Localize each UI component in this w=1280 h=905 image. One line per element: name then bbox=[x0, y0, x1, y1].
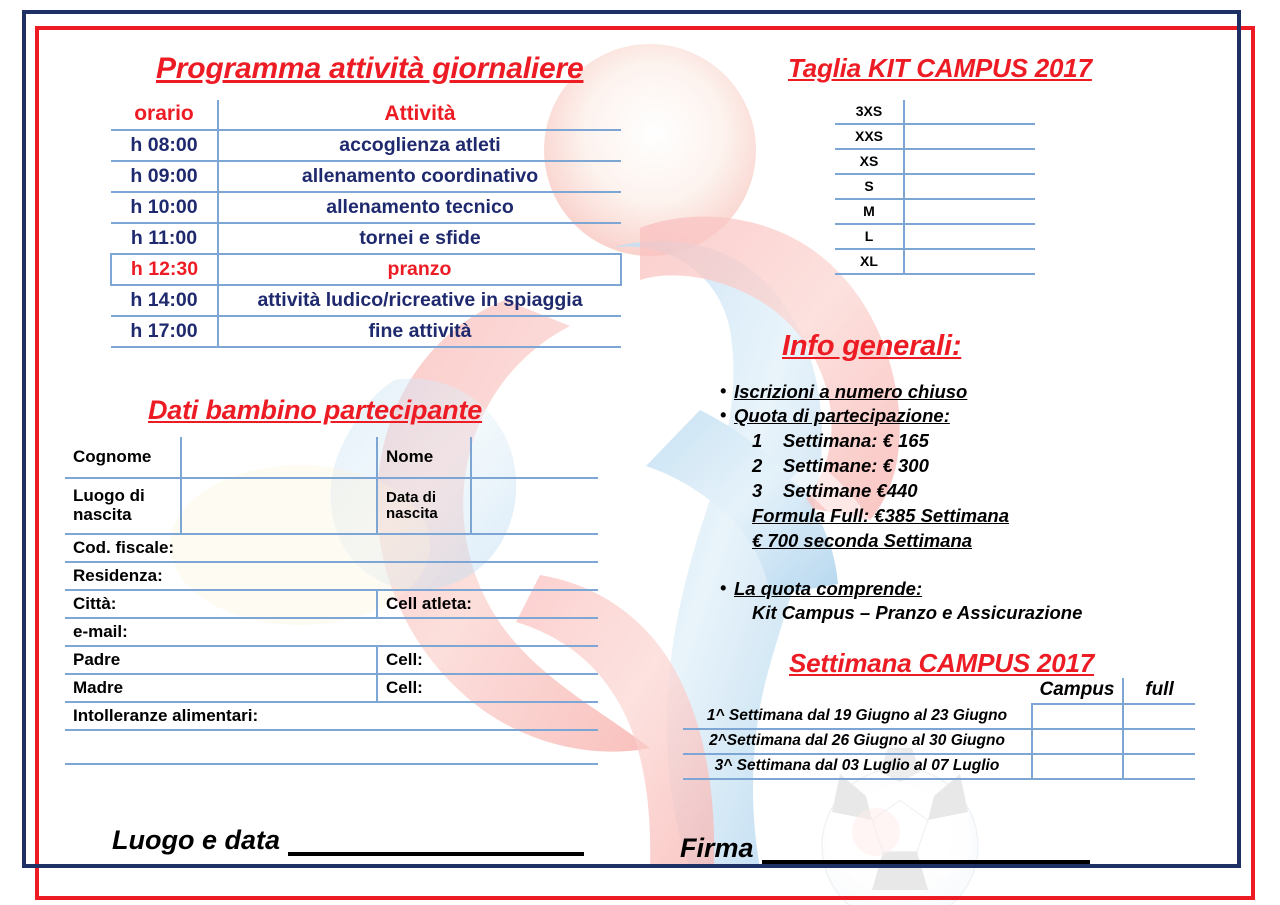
frame-inner-navy bbox=[22, 10, 1241, 868]
flyer-page: Programma attività giornaliere orario At… bbox=[0, 0, 1280, 905]
